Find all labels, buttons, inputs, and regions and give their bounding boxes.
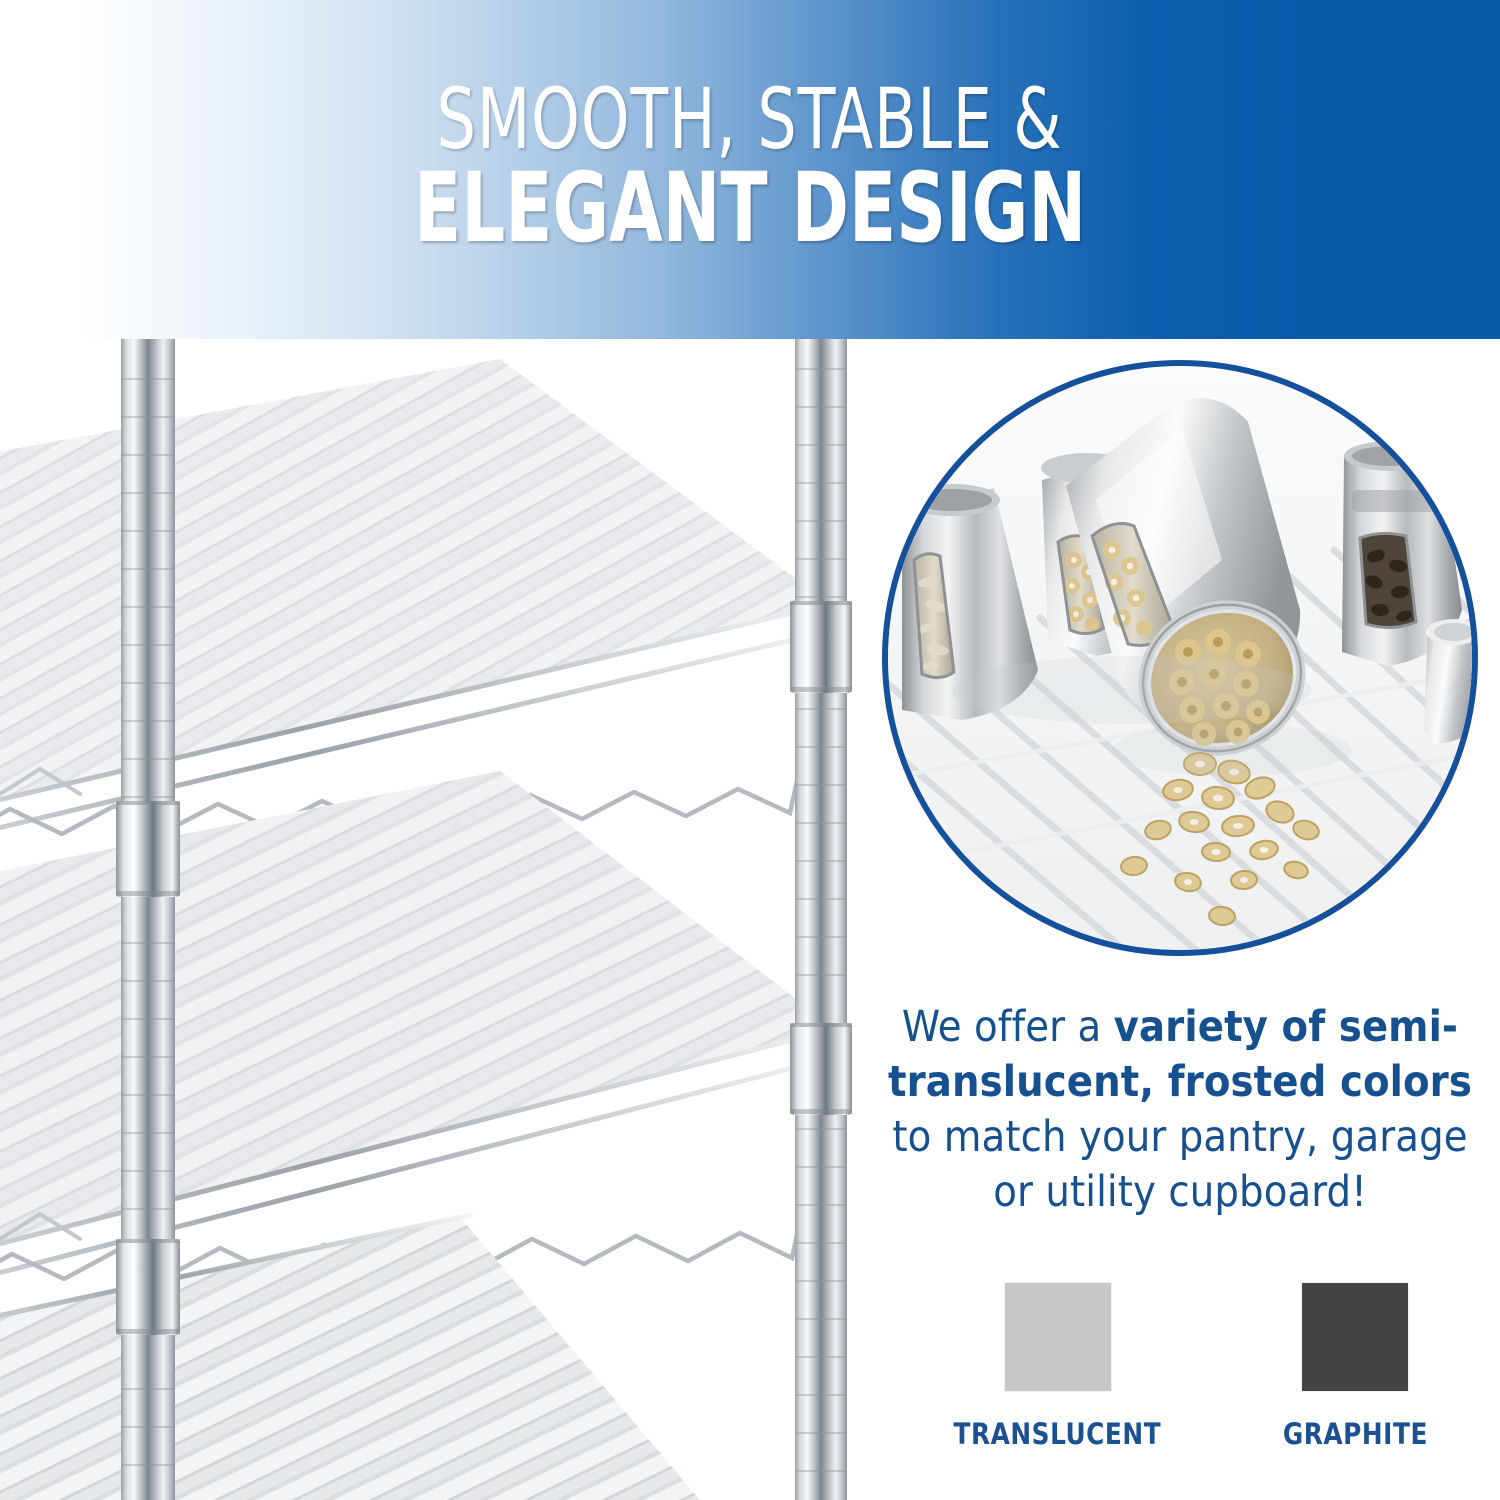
copy-text-plain-2: to match your pantry, garage or utility … <box>892 1112 1467 1217</box>
color-swatch-group: TRANSLUCENT GRAPHITE <box>930 1283 1450 1451</box>
headline-line-1: SMOOTH, STABLE & <box>437 79 1063 160</box>
circle-inset-photo <box>882 360 1478 956</box>
product-photo-shelving-unit <box>0 339 900 1500</box>
banner-text-group: SMOOTH, STABLE & ELEGANT DESIGN <box>0 0 1500 339</box>
canister-lid-right <box>1424 618 1478 744</box>
header-banner: SMOOTH, STABLE & ELEGANT DESIGN <box>0 0 1500 339</box>
headline-line-2: ELEGANT DESIGN <box>414 163 1086 254</box>
swatch-label-graphite: GRAPHITE <box>1283 1417 1428 1451</box>
post-collar-right-upper <box>790 601 852 693</box>
swatch-translucent[interactable]: TRANSLUCENT <box>948 1283 1167 1451</box>
chrome-post-right <box>790 339 852 1500</box>
swatch-chip-graphite[interactable] <box>1302 1283 1408 1391</box>
marketing-graphic: SMOOTH, STABLE & ELEGANT DESIGN <box>0 0 1500 1500</box>
canisters-on-shelf-illustration <box>882 360 1478 956</box>
swatch-label-translucent: TRANSLUCENT <box>954 1417 1162 1451</box>
copy-text-plain-1: We offer a <box>902 1002 1114 1052</box>
swatch-graphite[interactable]: GRAPHITE <box>1279 1283 1432 1451</box>
post-collar-lower <box>116 1239 180 1335</box>
shelving-illustration <box>0 339 900 1500</box>
marketing-copy: We offer a variety of semi-translucent, … <box>880 1000 1480 1220</box>
chrome-post-left <box>116 339 180 1500</box>
swatch-chip-translucent[interactable] <box>1005 1283 1111 1391</box>
post-collar-right-lower <box>790 1023 852 1115</box>
post-collar-upper <box>116 801 180 897</box>
